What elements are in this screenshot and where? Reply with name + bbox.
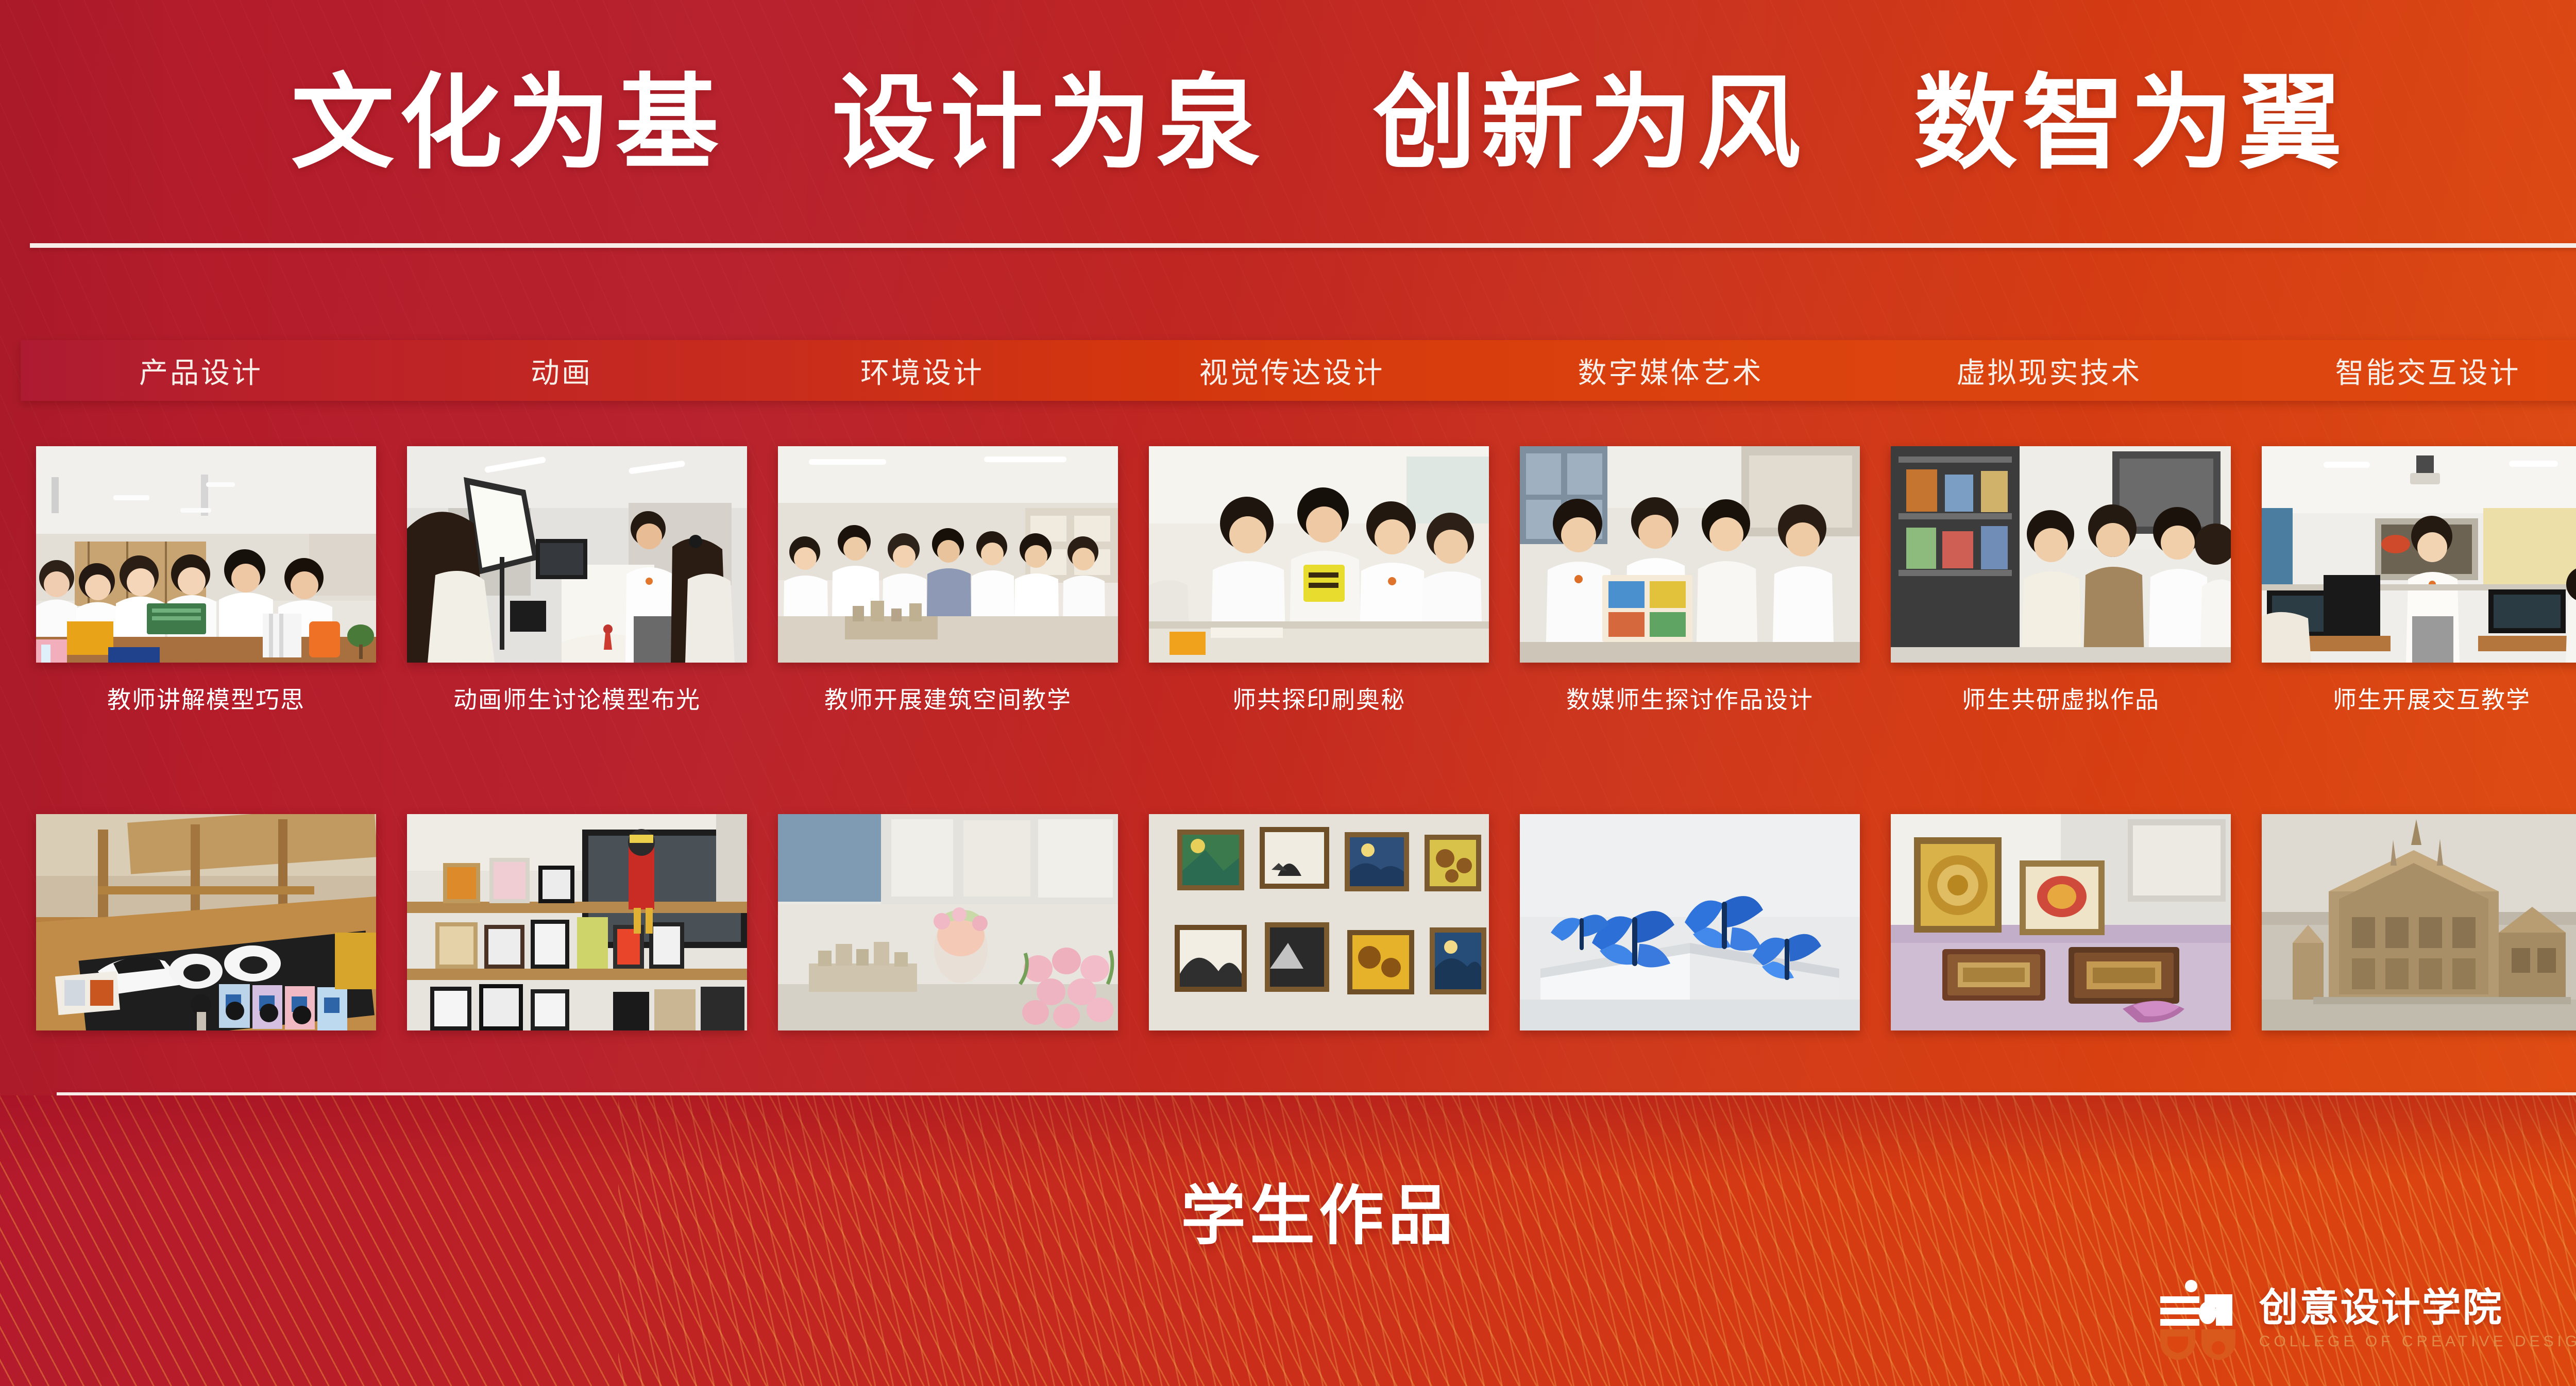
nav-item-digital-media-art[interactable]: 数字媒体艺术 [1481,350,1860,392]
photo-caption: 教师开展建筑空间教学 [824,681,1072,715]
photo-studio-students-model[interactable] [36,446,376,663]
bottom-banner: 学生作品 创意设计学院 COLLEGE OF CREATI [0,1095,2576,1386]
grid-column: 教师讲解模型巧思 [21,446,392,715]
shield-creative-design-logo-icon [2155,1276,2242,1362]
photo-printing-workshop[interactable] [1149,446,1489,663]
category-nav-bar[interactable]: 产品设计 动画 环境设计 视觉传达设计 数字媒体艺术 虚拟现实技术 智能交互设计 [21,340,2576,401]
grid-column: 师生共研虚拟作品 [1875,446,2246,715]
photo-cardboard-architecture-model[interactable] [2262,814,2576,1030]
photo-decorative-boxes-display[interactable] [1891,814,2231,1030]
photo-classroom-architecture-model[interactable] [778,446,1118,663]
college-logo[interactable]: 创意设计学院 COLLEGE OF CREATIVE DESIGN [2155,1276,2576,1362]
title-container: 文化为基 设计为泉 创新为风 数智为翼 [0,72,2576,175]
grid-column [392,814,762,1030]
poster-canvas: 文化为基 设计为泉 创新为风 数智为翼 产品设计 动画 环境设计 视觉传达设计 … [0,0,2576,1386]
photo-car-models-workbench[interactable] [36,814,376,1030]
nav-item-intelligent-interaction-design[interactable]: 智能交互设计 [2239,350,2576,392]
grid-column [21,814,392,1030]
works-photo-grid [21,814,2576,1030]
photo-blue-butterfly-popup-book[interactable] [1520,814,1860,1030]
photo-caption: 动画师生讨论模型布光 [453,681,701,715]
photo-caption: 师生共研虚拟作品 [1962,681,2160,715]
grid-column [1875,814,2246,1030]
teaching-photo-grid: 教师讲解模型巧思 [21,446,2576,715]
photo-caption: 教师讲解模型巧思 [107,681,305,715]
photo-digital-media-discussion[interactable] [1520,446,1860,663]
photo-framed-artwork-shelf[interactable] [407,814,747,1030]
grid-column: 动画师生讨论模型布光 [392,446,762,715]
page-title: 文化为基 设计为泉 创新为风 数智为翼 [0,72,2576,175]
grid-column: 师共探印刷奥秘 [1133,446,1504,715]
grid-column: 教师开展建筑空间教学 [762,446,1133,715]
photo-photo-studio-lighting[interactable] [407,446,747,663]
photo-vr-display-shelf[interactable] [1891,446,2231,663]
nav-item-virtual-reality-technology[interactable]: 虚拟现实技术 [1860,350,2239,392]
grid-column: 数媒师生探讨作品设计 [1504,446,1875,715]
logo-name-en: COLLEGE OF CREATIVE DESIGN [2259,1333,2576,1350]
nav-item-product-design[interactable]: 产品设计 [21,350,381,392]
photo-architecture-model-flowers[interactable] [778,814,1118,1030]
photo-computer-lab-teaching[interactable] [2262,446,2576,663]
photo-gallery-wall-paintings[interactable] [1149,814,1489,1030]
logo-name-cn: 创意设计学院 [2259,1288,2576,1329]
grid-column [762,814,1133,1030]
nav-item-environmental-design[interactable]: 环境设计 [742,350,1103,392]
logo-text-block: 创意设计学院 COLLEGE OF CREATIVE DESIGN [2259,1288,2576,1350]
nav-item-visual-communication-design[interactable]: 视觉传达设计 [1103,350,1481,392]
divider-top [30,243,2576,248]
section-heading-student-works: 学生作品 [0,1163,2576,1257]
grid-column [2246,814,2576,1030]
grid-column [1133,814,1504,1030]
nav-item-animation[interactable]: 动画 [381,350,742,392]
grid-column: 师生开展交互教学 [2246,446,2576,715]
photo-caption: 师共探印刷奥秘 [1232,681,1405,715]
photo-caption: 数媒师生探讨作品设计 [1566,681,1814,715]
photo-caption: 师生开展交互教学 [2333,681,2531,715]
grid-column [1504,814,1875,1030]
